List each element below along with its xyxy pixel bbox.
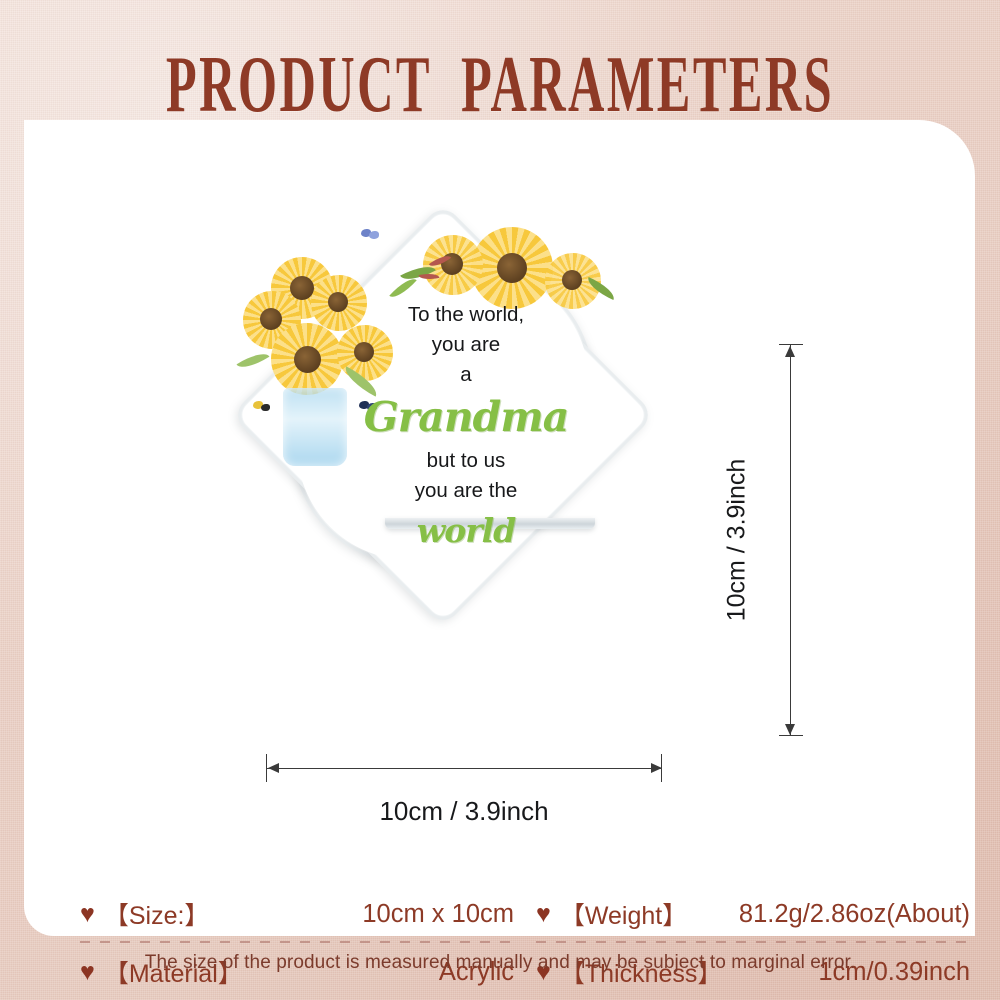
height-dimension-label: 10cm / 3.9inch	[723, 459, 752, 622]
spec-table: ♥ 【Size:】 10cm x 10cm ♥ 【Weight】 81.2g/2…	[80, 885, 970, 1000]
product-stage: To the world, you are a Grandma but to u…	[24, 120, 975, 720]
leaf-icon	[237, 347, 270, 373]
spec-value-weight: 81.2g/2.86oz(About)	[739, 900, 970, 929]
sunflower-center	[290, 276, 314, 300]
spec-row-weight: ♥ 【Weight】 81.2g/2.86oz(About)	[536, 885, 970, 943]
infographic-page: PRODUCT PARAMETERS	[0, 0, 1000, 1000]
height-arrow-down-icon	[785, 724, 795, 735]
spec-row-size: ♥ 【Size:】 10cm x 10cm	[80, 885, 514, 943]
spec-value-size: 10cm x 10cm	[362, 900, 514, 929]
heart-bottom-bevel	[385, 518, 595, 529]
width-arrow-left-icon	[268, 763, 279, 773]
width-dimension-line	[266, 768, 662, 769]
heart-face-right	[363, 269, 589, 495]
width-dimension-label: 10cm / 3.9inch	[379, 796, 548, 827]
page-title: PRODUCT PARAMETERS	[100, 38, 900, 131]
heart-bullet-icon: ♥	[536, 902, 551, 927]
spec-key-weight: 【Weight】	[560, 896, 687, 932]
height-arrow-up-icon	[785, 346, 795, 357]
acrylic-heart-plaque: To the world, you are a Grandma but to u…	[233, 205, 653, 625]
height-dimension-cap-bottom	[779, 735, 803, 736]
heart-bullet-icon: ♥	[80, 902, 95, 927]
spec-key-size: 【Size:】	[104, 896, 210, 932]
sunflower-icon	[243, 291, 301, 349]
footer-note: The size of the product is measured manu…	[0, 952, 1000, 974]
sunflower-icon	[271, 257, 333, 319]
sunflower-center	[562, 270, 582, 290]
sunflower-center	[260, 308, 282, 330]
leaf-icon	[584, 277, 618, 300]
height-dimension-line	[790, 344, 791, 736]
width-arrow-right-icon	[651, 763, 662, 773]
content-card: To the world, you are a Grandma but to u…	[24, 120, 975, 936]
